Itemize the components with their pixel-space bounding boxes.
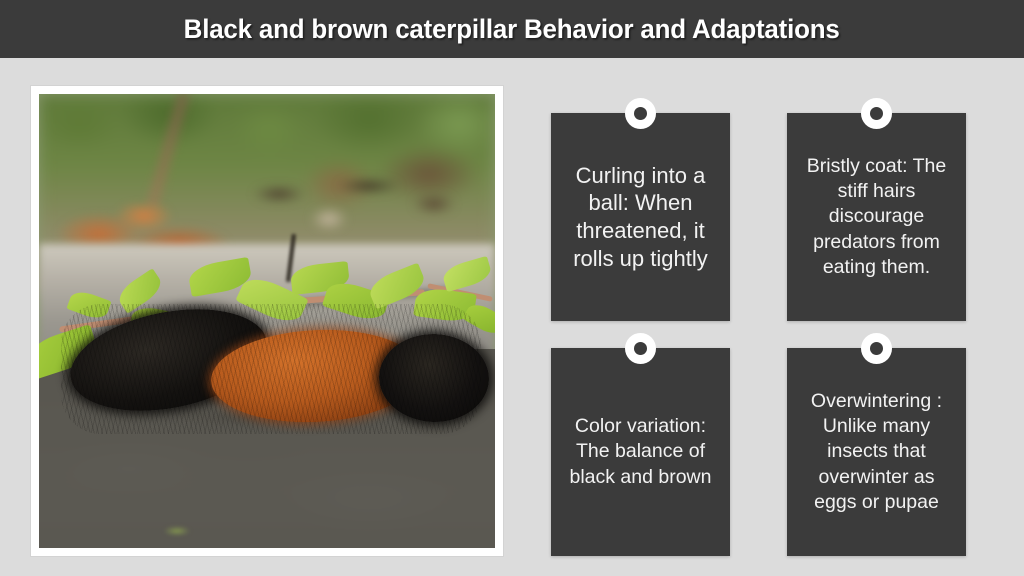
circle-marker-icon-3 <box>625 333 656 364</box>
slide-header: Black and brown caterpillar Behavior and… <box>0 0 1024 58</box>
card-3[interactable]: Color variation: The balance of black an… <box>551 348 730 556</box>
card-3-text: Color variation: The balance of black an… <box>551 414 730 489</box>
card-2[interactable]: Bristly coat: The stiff hairs discourage… <box>787 113 966 321</box>
card-2-text: Bristly coat: The stiff hairs discourage… <box>787 154 966 280</box>
photo-frame <box>31 86 503 556</box>
page-title: Black and brown caterpillar Behavior and… <box>184 14 840 45</box>
caterpillar-photo <box>39 94 495 548</box>
woolly-bear-caterpillar <box>61 304 481 434</box>
circle-marker-icon-2 <box>861 98 892 129</box>
forest-floor-debris <box>219 164 495 244</box>
card-1-text: Curling into a ball: When threatened, it… <box>551 162 730 273</box>
circle-marker-icon-4 <box>861 333 892 364</box>
card-1[interactable]: Curling into a ball: When threatened, it… <box>551 113 730 321</box>
caterpillar-bristles <box>61 304 481 434</box>
circle-marker-icon-1 <box>625 98 656 129</box>
card-4[interactable]: Overwintering : Unlike many insects that… <box>787 348 966 556</box>
card-4-text: Overwintering : Unlike many insects that… <box>787 389 966 515</box>
moss-patch <box>159 524 197 538</box>
